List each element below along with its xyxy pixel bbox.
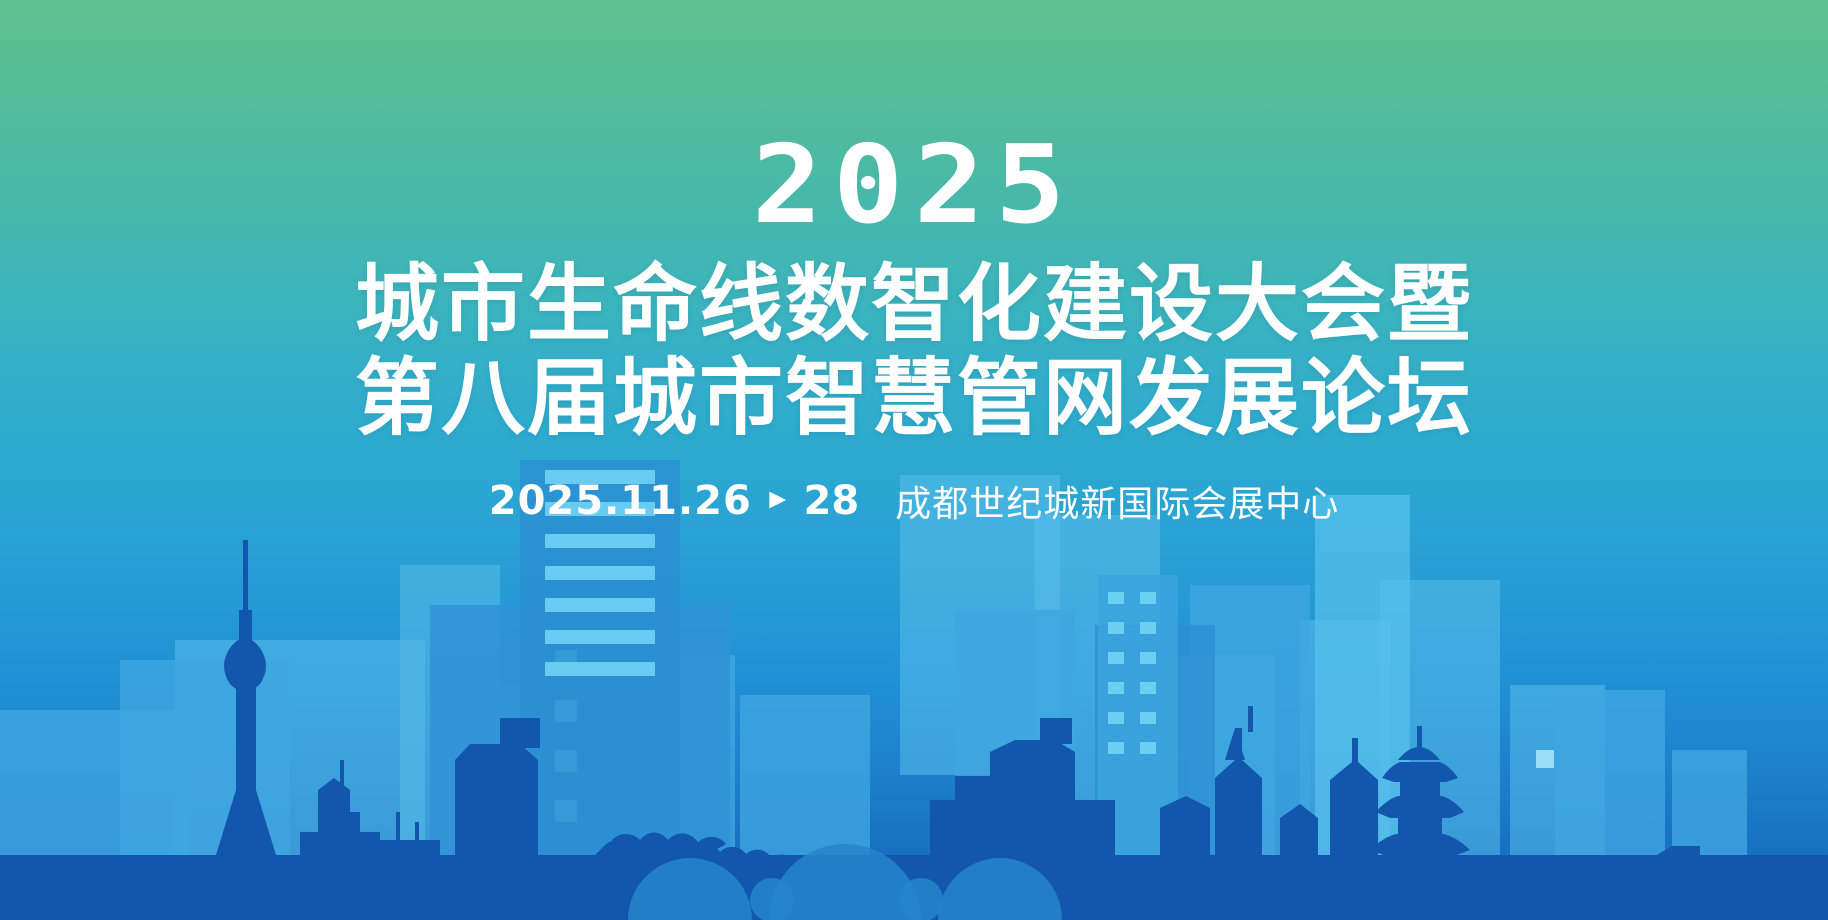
conference-title-line-1: 城市生命线数智化建设大会暨: [0, 262, 1828, 348]
conference-banner: 2025 城市生命线数智化建设大会暨 第八届城市智慧管网发展论坛 2025.11…: [0, 0, 1828, 920]
venue-name: 成都世纪城新国际会展中心: [895, 475, 1339, 527]
date-venue-row: 2025.11.26 ► 28 成都世纪城新国际会展中心: [0, 475, 1828, 527]
date-end: 28: [804, 478, 860, 524]
city-skyline-illustration: [0, 460, 1828, 920]
year-heading: 2025: [0, 132, 1828, 240]
conference-title-line-2: 第八届城市智慧管网发展论坛: [0, 356, 1828, 442]
date-range-arrow-icon: ►: [764, 485, 792, 513]
date-start: 2025.11.26: [489, 478, 752, 524]
banner-text-block: 2025 城市生命线数智化建设大会暨 第八届城市智慧管网发展论坛 2025.11…: [0, 0, 1828, 527]
